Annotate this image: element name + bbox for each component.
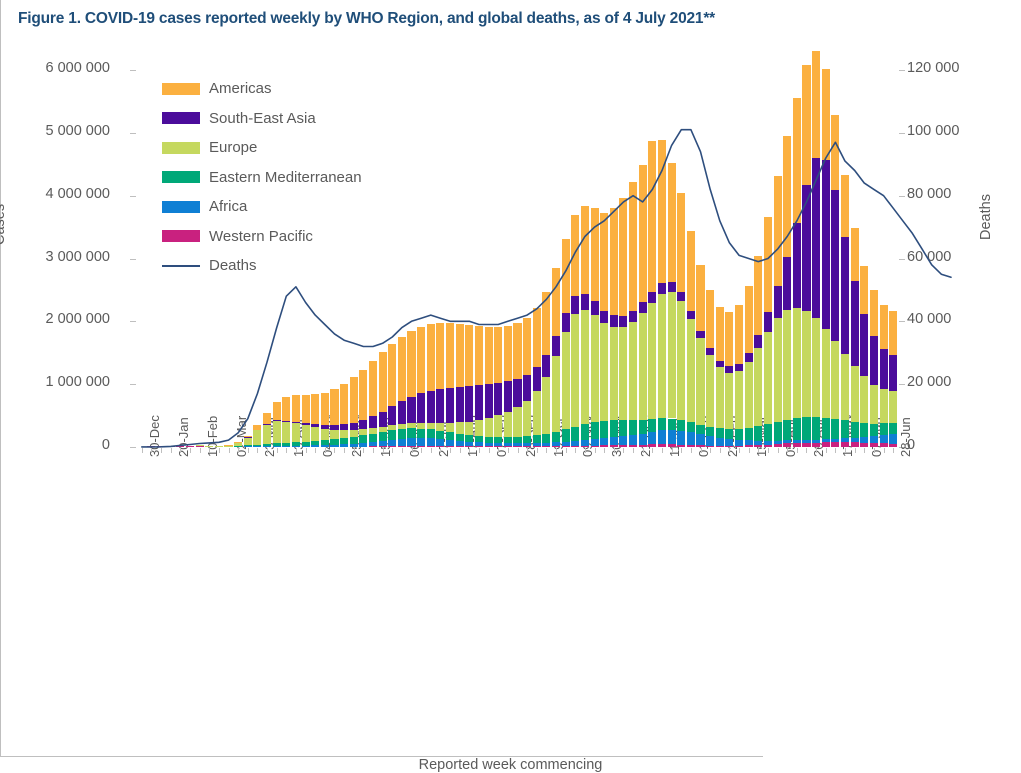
x-axis-tick: [508, 448, 509, 453]
x-axis-tick: [874, 448, 875, 453]
x-axis-tick: [797, 448, 798, 453]
x-axis-tick: [614, 448, 615, 453]
x-axis-tick: [710, 448, 711, 453]
y-axis-left-tick-label: 5 000 000: [0, 123, 122, 139]
x-axis-tick: [180, 448, 181, 453]
x-axis-tick: [546, 448, 547, 453]
x-axis-tick: [662, 448, 663, 453]
x-axis-tick: [729, 448, 730, 453]
x-axis-tick: [855, 448, 856, 453]
x-axis-tick: [315, 448, 316, 453]
x-axis-tick: [672, 448, 673, 453]
x-axis-tick: [229, 448, 230, 453]
x-axis-tick: [537, 448, 538, 453]
legend-swatch-icon: [162, 230, 200, 242]
x-axis-tick: [469, 448, 470, 453]
x-axis-tick: [835, 448, 836, 453]
x-axis-tick: [778, 448, 779, 453]
y-axis-right-tick-label: 120 000: [907, 60, 959, 76]
x-axis-tick: [518, 448, 519, 453]
x-axis-tick: [489, 448, 490, 453]
x-axis-tick: [325, 448, 326, 453]
x-axis-tick: [161, 448, 162, 453]
x-axis-tick: [354, 448, 355, 453]
x-axis-tick: [575, 448, 576, 453]
legend-swatch-icon: [162, 171, 200, 183]
legend-item-western-pacific[interactable]: Western Pacific: [162, 222, 362, 252]
x-axis-tick: [200, 448, 201, 453]
x-axis-tick: [373, 448, 374, 453]
x-axis-tick-label: 28-Jun: [898, 417, 913, 457]
y-axis-left-tick-label: 2 000 000: [0, 311, 122, 327]
x-axis-tick: [267, 448, 268, 453]
x-axis-tick: [604, 448, 605, 453]
x-axis-tick: [623, 448, 624, 453]
y-axis-right-tick: [899, 321, 905, 322]
x-axis-tick: [816, 448, 817, 453]
x-axis-tick: [884, 448, 885, 453]
x-axis-tick: [383, 448, 384, 453]
y-axis-right-title: Deaths: [978, 194, 994, 240]
x-axis-tick: [479, 448, 480, 453]
legend-label: South-East Asia: [209, 110, 316, 127]
legend-item-deaths[interactable]: Deaths: [162, 251, 362, 281]
x-axis-tick: [392, 448, 393, 453]
y-axis-left-tick: [130, 321, 136, 322]
x-axis-tick: [556, 448, 557, 453]
x-axis-tick: [431, 448, 432, 453]
x-axis-tick: [334, 448, 335, 453]
legend-item-americas[interactable]: Americas: [162, 74, 362, 104]
x-axis-tick: [806, 448, 807, 453]
x-axis-tick: [498, 448, 499, 453]
legend-item-africa[interactable]: Africa: [162, 192, 362, 222]
x-axis-tick: [681, 448, 682, 453]
x-axis-tick: [643, 448, 644, 453]
y-axis-left-tick: [130, 447, 136, 448]
legend-item-eastern-mediterranean[interactable]: Eastern Mediterranean: [162, 163, 362, 193]
x-axis-tick: [257, 448, 258, 453]
x-axis-tick: [768, 448, 769, 453]
legend-swatch-icon: [162, 265, 200, 267]
legend-swatch-icon: [162, 142, 200, 154]
x-axis-tick: [758, 448, 759, 453]
x-axis-tick: [363, 448, 364, 453]
y-axis-left-tick-label: 3 000 000: [0, 249, 122, 265]
x-axis-tick: [412, 448, 413, 453]
y-axis-left-tick-label: 4 000 000: [0, 186, 122, 202]
chart-legend: AmericasSouth-East AsiaEuropeEastern Med…: [162, 74, 362, 281]
x-axis-tick: [219, 448, 220, 453]
y-axis-left-tick: [130, 196, 136, 197]
y-axis-left-tick: [130, 133, 136, 134]
legend-swatch-icon: [162, 201, 200, 213]
x-axis-tick: [248, 448, 249, 453]
x-axis-tick: [450, 448, 451, 453]
x-axis-title: Reported week commencing: [0, 757, 1021, 773]
x-axis-tick: [701, 448, 702, 453]
x-axis-tick: [893, 448, 894, 453]
x-axis-tick: [749, 448, 750, 453]
x-axis-tick: [720, 448, 721, 453]
y-axis-left-tick: [130, 384, 136, 385]
y-axis-left-tick-label: 1 000 000: [0, 374, 122, 390]
x-axis-tick: [864, 448, 865, 453]
y-axis-left-tick: [130, 70, 136, 71]
y-axis-right-tick: [899, 196, 905, 197]
x-axis-tick: [652, 448, 653, 453]
x-axis-tick: [460, 448, 461, 453]
x-axis-tick: [151, 448, 152, 453]
legend-item-south-east-asia[interactable]: South-East Asia: [162, 104, 362, 134]
x-axis-tick: [845, 448, 846, 453]
x-axis-tick: [277, 448, 278, 453]
y-axis-right-tick: [899, 259, 905, 260]
legend-label: Africa: [209, 198, 247, 215]
legend-label: Americas: [209, 80, 272, 97]
x-axis-tick: [402, 448, 403, 453]
x-axis-tick: [633, 448, 634, 453]
legend-item-europe[interactable]: Europe: [162, 133, 362, 163]
y-axis-right-tick: [899, 384, 905, 385]
y-axis-left-tick: [130, 259, 136, 260]
y-axis-right-tick-label: 100 000: [907, 123, 959, 139]
legend-label: Eastern Mediterranean: [209, 169, 362, 186]
x-axis-tick: [142, 448, 143, 453]
y-axis-left-tick-label: 6 000 000: [0, 60, 122, 76]
x-axis-tick: [787, 448, 788, 453]
y-axis-right-tick: [899, 70, 905, 71]
y-axis-right-tick-label: 20 000: [907, 374, 951, 390]
x-axis-tick: [691, 448, 692, 453]
legend-label: Western Pacific: [209, 228, 313, 245]
legend-swatch-icon: [162, 112, 200, 124]
legend-swatch-icon: [162, 83, 200, 95]
y-axis-right-tick: [899, 133, 905, 134]
x-axis-tick: [344, 448, 345, 453]
y-axis-right-tick-label: 80 000: [907, 186, 951, 202]
x-axis-tick: [209, 448, 210, 453]
x-axis-tick: [527, 448, 528, 453]
figure-title: Figure 1. COVID-19 cases reported weekly…: [18, 10, 715, 28]
legend-label: Europe: [209, 139, 257, 156]
x-axis-tick: [585, 448, 586, 453]
x-axis-tick: [595, 448, 596, 453]
x-axis-tick: [190, 448, 191, 453]
x-axis-tick: [296, 448, 297, 453]
x-axis-tick: [440, 448, 441, 453]
y-axis-right-tick-label: 40 000: [907, 311, 951, 327]
x-axis-tick: [286, 448, 287, 453]
x-axis-tick: [739, 448, 740, 453]
x-axis-tick: [238, 448, 239, 453]
legend-label: Deaths: [209, 257, 257, 274]
x-axis-tick: [421, 448, 422, 453]
y-axis-left-title: Cases: [0, 204, 8, 245]
y-axis-left-tick-label: 0: [0, 437, 122, 453]
x-axis-tick: [566, 448, 567, 453]
x-axis-tick: [306, 448, 307, 453]
x-axis-tick: [826, 448, 827, 453]
y-axis-right-line: [0, 378, 1, 756]
x-axis-tick: [171, 448, 172, 453]
